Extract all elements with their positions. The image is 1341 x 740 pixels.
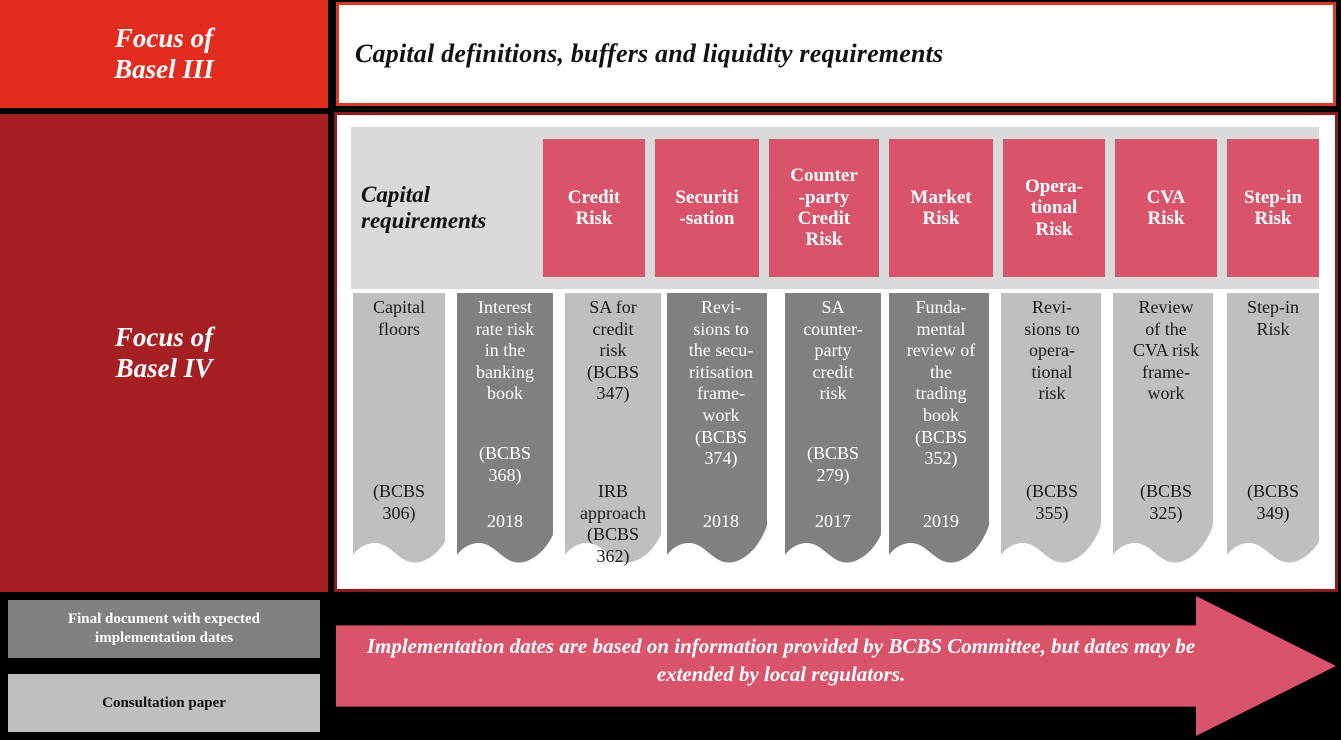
ribbon-title: Step-in Risk [1227,297,1319,340]
risk-ribbon-sa-for-credit-risk[interactable]: SA for credit risk (BCBS 347)IRB approac… [565,293,661,585]
risk-ribbon-fundamental-review-trading-book[interactable]: Funda- mental review of the trading book… [889,293,993,585]
category-box-7[interactable]: Step-in Risk [1227,139,1319,277]
capital-requirements-label: Capital requirements [361,139,551,277]
category-box-3[interactable]: Counter -party Credit Risk [769,139,879,277]
category-box-label: Market Risk [908,187,973,230]
ribbon-title: Review of the CVA risk frame- work [1113,297,1219,405]
category-box-4[interactable]: Market Risk [889,139,993,277]
ribbon-reference: (BCBS 368) [457,443,553,486]
legend-consultation-paper: Consultation paper [8,674,320,732]
legend-final-document: Final document with expected implementat… [8,600,320,658]
category-box-1[interactable]: Credit Risk [543,139,645,277]
risk-ribbon-sa-counterparty-credit-risk[interactable]: SA counter- party credit risk(BCBS 279)2… [785,293,881,585]
focus-basel-iii-label: Focus of Basel III [114,23,214,85]
implementation-note-arrow: Implementation dates are based on inform… [336,596,1336,736]
ribbon-title: SA for credit risk (BCBS 347) [565,297,661,405]
category-box-label: CVA Risk [1145,187,1188,230]
ribbon-year: 2017 [785,511,881,533]
ribbon-title: SA counter- party credit risk [785,297,881,405]
implementation-note-text: Implementation dates are based on inform… [366,632,1196,689]
header-banner: Capital definitions, buffers and liquidi… [336,2,1336,106]
risk-ribbon-interest-rate-risk-banking-book[interactable]: Interest rate risk in the banking book(B… [457,293,553,585]
ribbon-title: Funda- mental review of the trading book… [889,297,993,470]
focus-basel-iv-label: Focus of Basel IV [115,322,213,384]
category-box-6[interactable]: CVA Risk [1115,139,1217,277]
focus-basel-iv-panel: Focus of Basel IV [0,114,328,592]
category-box-5[interactable]: Opera- tional Risk [1003,139,1105,277]
legend-final-document-label: Final document with expected implementat… [22,610,306,648]
ribbon-title: Revi- sions to opera- tional risk [1001,297,1103,405]
ribbon-reference: (BCBS 279) [785,443,881,486]
ribbon-title: Interest rate risk in the banking book [457,297,553,405]
category-box-label: Credit Risk [566,187,622,230]
ribbon-reference: (BCBS 355) [1001,481,1103,524]
ribbon-year: 2018 [667,511,775,533]
ribbon-reference: (BCBS 325) [1113,481,1219,524]
ribbon-reference: IRB approach (BCBS 362) [565,481,661,567]
category-box-label: Opera- tional Risk [1023,176,1085,240]
risk-ribbon-review-cva-risk-framework[interactable]: Review of the CVA risk frame- work(BCBS … [1113,293,1219,585]
category-box-label: Securiti -sation [673,187,740,230]
ribbon-reference: (BCBS 306) [353,481,445,524]
ribbon-title: Capital floors [353,297,445,340]
focus-basel-iii-panel: Focus of Basel III [0,0,328,108]
header-title: Capital definitions, buffers and liquidi… [339,39,943,69]
ribbon-reference: (BCBS 349) [1227,481,1319,524]
risk-ribbon-capital-floors[interactable]: Capital floors(BCBS 306) [353,293,445,585]
category-box-label: Step-in Risk [1242,187,1304,230]
ribbon-year: 2018 [457,511,553,533]
ribbon-title: Revi- sions to the secu- ritisation fram… [667,297,775,470]
legend-consultation-paper-label: Consultation paper [102,694,226,713]
risk-ribbon-step-in-risk[interactable]: Step-in Risk(BCBS 349) [1227,293,1319,585]
ribbon-year: 2019 [889,511,993,533]
risk-ribbon-revisions-securitisation-framework[interactable]: Revi- sions to the secu- ritisation fram… [667,293,775,585]
matrix-panel: Capital requirements Credit RiskSecuriti… [334,112,1338,592]
category-box-2[interactable]: Securiti -sation [655,139,759,277]
risk-ribbon-revisions-operational-risk[interactable]: Revi- sions to opera- tional risk(BCBS 3… [1001,293,1103,585]
category-box-label: Counter -party Credit Risk [788,165,860,250]
